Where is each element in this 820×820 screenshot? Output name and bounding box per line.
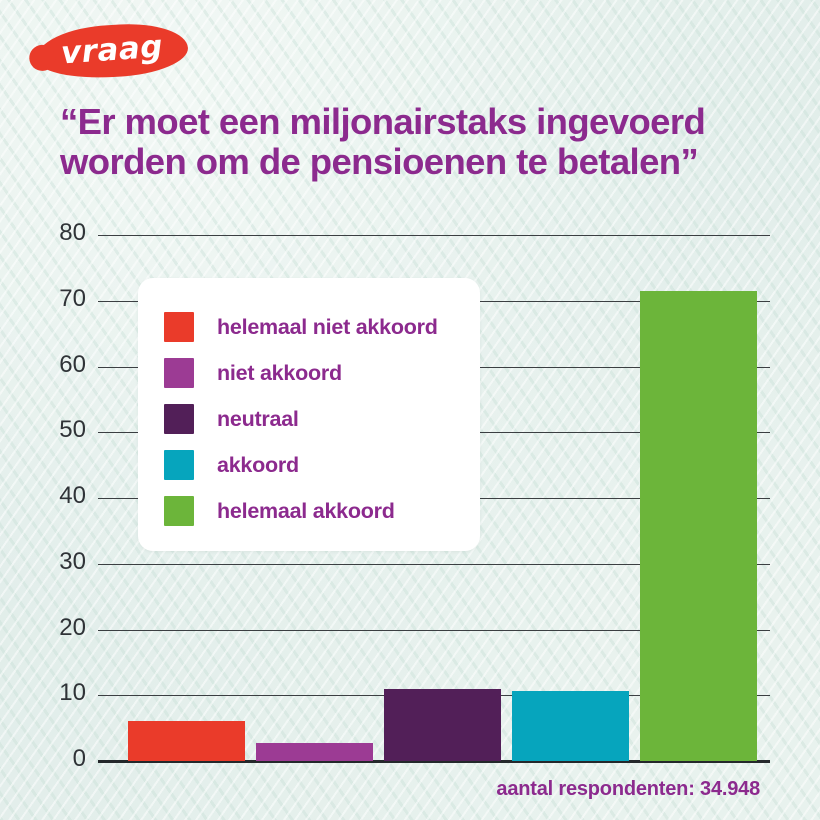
bar-niet-akkoord[interactable] (256, 743, 373, 761)
legend-item-label: niet akkoord (217, 361, 342, 386)
bar-akkoord[interactable] (512, 691, 629, 761)
legend-item-label: akkoord (217, 453, 299, 478)
y-axis-tick-label: 10 (30, 679, 86, 707)
legend-item-label: helemaal niet akkoord (217, 315, 438, 340)
legend-item-neutraal[interactable]: neutraal (164, 396, 466, 442)
legend-swatch-icon (164, 358, 194, 388)
legend-item-label: neutraal (217, 407, 299, 432)
y-axis-tick-label: 20 (30, 614, 86, 642)
legend-item-label: helemaal akkoord (217, 499, 395, 524)
legend-swatch-icon (164, 404, 194, 434)
bar-neutraal[interactable] (384, 689, 501, 761)
y-axis-tick-label: 80 (30, 219, 86, 247)
y-axis-tick-label: 70 (30, 285, 86, 313)
bar-helemaal-akkoord[interactable] (640, 291, 757, 761)
legend-swatch-icon (164, 496, 194, 526)
legend-swatch-icon (164, 312, 194, 342)
chart-legend: helemaal niet akkoordniet akkoordneutraa… (138, 278, 480, 551)
legend-rows: helemaal niet akkoordniet akkoordneutraa… (164, 304, 466, 534)
y-axis-tick-label: 50 (30, 416, 86, 444)
legend-item-helemaal-niet-akkoord[interactable]: helemaal niet akkoord (164, 304, 466, 350)
y-axis-tick-label: 0 (30, 745, 86, 773)
legend-item-akkoord[interactable]: akkoord (164, 442, 466, 488)
bar-helemaal-niet-akkoord[interactable] (128, 721, 245, 761)
poster-canvas: vraag “Er moet een miljonairstaks ingevo… (0, 0, 820, 820)
legend-item-helemaal-akkoord[interactable]: helemaal akkoord (164, 488, 466, 534)
y-axis-tick-label: 60 (30, 351, 86, 379)
y-axis-tick-label: 30 (30, 548, 86, 576)
legend-swatch-icon (164, 450, 194, 480)
y-axis-tick-label: 40 (30, 482, 86, 510)
respondents-annotation: aantal respondenten: 34.948 (496, 778, 760, 801)
legend-item-niet-akkoord[interactable]: niet akkoord (164, 350, 466, 396)
